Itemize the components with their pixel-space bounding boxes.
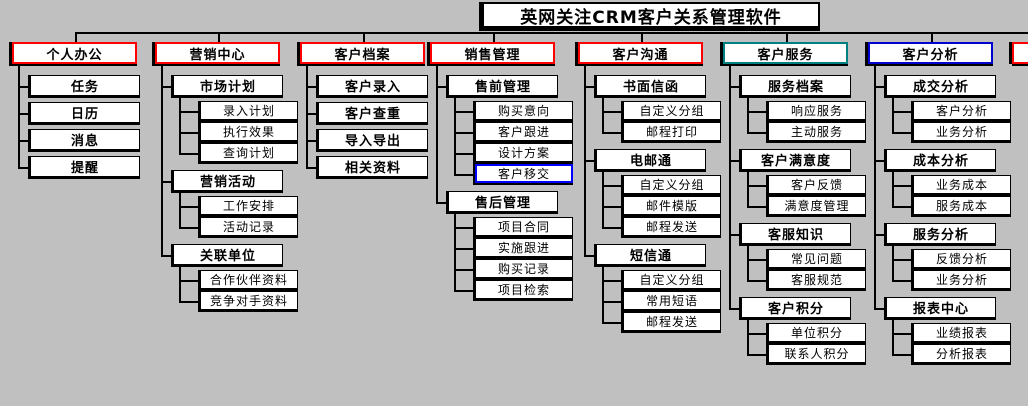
connector-line (454, 227, 475, 229)
connector-line (892, 354, 913, 356)
group-customer-communication-2[interactable]: 短信通 (596, 244, 706, 265)
connector-line (892, 111, 913, 113)
group-customer-archive-2[interactable]: 导入导出 (318, 129, 428, 150)
item-customer-communication-2-0[interactable]: 自定义分组 (623, 270, 721, 289)
connector-line (454, 290, 475, 292)
group-sales-management-1[interactable]: 售后管理 (448, 191, 558, 212)
group-personal-office-1[interactable]: 日历 (30, 102, 140, 123)
connector-line (454, 212, 456, 290)
module-marketing-center[interactable]: 营销中心 (155, 42, 280, 64)
connector-line (602, 132, 623, 134)
item-customer-service-1-1[interactable]: 满意度管理 (768, 196, 866, 215)
item-customer-communication-0-1[interactable]: 邮程打印 (623, 122, 721, 141)
item-customer-service-2-0[interactable]: 常见问题 (768, 249, 866, 268)
item-customer-service-3-1[interactable]: 联系人积分 (768, 344, 866, 363)
connector-line (179, 96, 181, 153)
item-customer-analysis-0-0[interactable]: 客户分析 (913, 101, 1011, 120)
item-sales-management-1-0[interactable]: 项目合同 (475, 217, 573, 236)
connector-line (747, 244, 749, 280)
connector-line (161, 255, 173, 257)
module-customer-service[interactable]: 客户服务 (723, 42, 848, 64)
group-customer-analysis-2[interactable]: 服务分析 (886, 223, 996, 244)
connector-line (454, 174, 475, 176)
connector-line (179, 132, 200, 134)
connector-line (729, 308, 741, 310)
connector-line (179, 301, 200, 303)
connector-line (747, 259, 768, 261)
item-marketing-center-0-0[interactable]: 录入计划 (200, 101, 298, 120)
connector-line (18, 167, 30, 169)
connector-line (892, 259, 913, 261)
item-sales-management-1-3[interactable]: 项目检索 (475, 280, 573, 299)
group-customer-archive-0[interactable]: 客户录入 (318, 75, 428, 96)
connector-line (454, 111, 475, 113)
connector-line (747, 318, 749, 354)
group-sales-management-0[interactable]: 售前管理 (448, 75, 558, 96)
group-customer-archive-1[interactable]: 客户查重 (318, 102, 428, 123)
connector-line (602, 322, 623, 324)
item-customer-analysis-2-0[interactable]: 反馈分析 (913, 249, 1011, 268)
group-customer-service-1[interactable]: 客户满意度 (741, 149, 851, 170)
item-marketing-center-2-0[interactable]: 合作伙伴资料 (200, 270, 298, 289)
connector-line (602, 170, 604, 227)
connector-line (892, 185, 913, 187)
group-customer-communication-0[interactable]: 书面信函 (596, 75, 706, 96)
group-marketing-center-2[interactable]: 关联单位 (173, 244, 283, 265)
group-personal-office-0[interactable]: 任务 (30, 75, 140, 96)
group-customer-service-3[interactable]: 客户积分 (741, 297, 851, 318)
item-customer-analysis-1-0[interactable]: 业务成本 (913, 175, 1011, 194)
connector-line (892, 132, 913, 134)
connector-line (874, 64, 876, 308)
page-title: 英网关注CRM客户关系管理软件 (482, 2, 820, 28)
group-customer-archive-3[interactable]: 相关资料 (318, 156, 428, 177)
item-customer-service-3-0[interactable]: 单位积分 (768, 323, 866, 342)
item-customer-communication-2-1[interactable]: 常用短语 (623, 291, 721, 310)
item-marketing-center-2-1[interactable]: 竞争对手资料 (200, 291, 298, 310)
item-customer-communication-2-2[interactable]: 邮程发送 (623, 312, 721, 331)
connector-line (729, 64, 731, 308)
connector-line (584, 64, 586, 255)
item-marketing-center-1-0[interactable]: 工作安排 (200, 196, 298, 215)
item-sales-management-0-2[interactable]: 设计方案 (475, 143, 573, 162)
connector-line (436, 64, 438, 202)
group-marketing-center-1[interactable]: 营销活动 (173, 170, 283, 191)
item-sales-management-0-1[interactable]: 客户跟进 (475, 122, 573, 141)
connector-line (306, 64, 308, 167)
connector-line (454, 153, 475, 155)
group-customer-analysis-1[interactable]: 成本分析 (886, 149, 996, 170)
item-customer-analysis-0-1[interactable]: 业务分析 (913, 122, 1011, 141)
connector-line (18, 64, 20, 167)
group-customer-analysis-3[interactable]: 报表中心 (886, 297, 996, 318)
connector-line (602, 206, 623, 208)
connector-line (179, 111, 200, 113)
connector-line (786, 32, 788, 42)
item-customer-communication-1-1[interactable]: 邮件模版 (623, 196, 721, 215)
group-personal-office-2[interactable]: 消息 (30, 129, 140, 150)
connector-line (436, 202, 448, 204)
connector-line (306, 167, 318, 169)
connector-line (363, 32, 365, 42)
group-personal-office-3[interactable]: 提醒 (30, 156, 140, 177)
connector-line (493, 32, 495, 42)
module-customer-archive[interactable]: 客户档案 (300, 42, 425, 64)
connector-line (454, 269, 475, 271)
connector-line (179, 153, 200, 155)
module-customer-analysis[interactable]: 客户分析 (868, 42, 993, 64)
item-sales-management-1-2[interactable]: 购买记录 (475, 259, 573, 278)
item-marketing-center-0-2[interactable]: 查询计划 (200, 143, 298, 162)
connector-line (179, 227, 200, 229)
group-customer-service-2[interactable]: 客服知识 (741, 223, 851, 244)
item-customer-analysis-3-1[interactable]: 分析报表 (913, 344, 1011, 363)
connector-line (218, 32, 220, 42)
connector-line (892, 318, 894, 354)
item-customer-service-0-0[interactable]: 响应服务 (768, 101, 866, 120)
item-customer-analysis-1-1[interactable]: 服务成本 (913, 196, 1011, 215)
group-customer-service-0[interactable]: 服务档案 (741, 75, 851, 96)
item-customer-service-1-0[interactable]: 客户反馈 (768, 175, 866, 194)
connector-line (892, 96, 894, 132)
connector-line (179, 191, 181, 227)
connector-line (747, 170, 749, 206)
connector-line (602, 227, 623, 229)
connector-line (747, 354, 768, 356)
group-customer-analysis-0[interactable]: 成交分析 (886, 75, 996, 96)
connector-line (892, 244, 894, 280)
connector-line (602, 280, 623, 282)
connector-line (602, 185, 623, 187)
connector-line (747, 185, 768, 187)
connector-line (892, 170, 894, 206)
connector-line (75, 32, 77, 42)
connector-line (179, 265, 181, 301)
connector-line (161, 64, 163, 255)
connector-line (454, 132, 475, 134)
connector-line (747, 132, 768, 134)
item-customer-communication-1-0[interactable]: 自定义分组 (623, 175, 721, 194)
item-customer-service-0-1[interactable]: 主动服务 (768, 122, 866, 141)
item-customer-analysis-3-0[interactable]: 业绩报表 (913, 323, 1011, 342)
item-customer-service-2-1[interactable]: 客服规范 (768, 270, 866, 289)
item-sales-management-1-1[interactable]: 实施跟进 (475, 238, 573, 257)
connector-line (602, 111, 623, 113)
connector-line (747, 280, 768, 282)
truncated-module-box[interactable] (1012, 42, 1028, 64)
connector-line (641, 32, 643, 42)
connector-line (602, 301, 623, 303)
connector-line (584, 255, 596, 257)
item-customer-analysis-2-1[interactable]: 业务分析 (913, 270, 1011, 289)
item-sales-management-0-0[interactable]: 购买意向 (475, 101, 573, 120)
connector-line (747, 333, 768, 335)
connector-line (179, 280, 200, 282)
item-marketing-center-0-1[interactable]: 执行效果 (200, 122, 298, 141)
connector-line (892, 206, 913, 208)
connector-line (602, 96, 604, 132)
item-sales-management-0-3[interactable]: 客户移交 (475, 164, 573, 183)
connector-line (747, 111, 768, 113)
connector-line (602, 265, 604, 322)
org-chart-canvas: 英网关注CRM客户关系管理软件 个人办公任务日历消息提醒营销中心市场计划录入计划… (0, 0, 1028, 406)
connector-line (454, 96, 456, 174)
connector-line (179, 206, 200, 208)
connector-line (454, 248, 475, 250)
module-sales-management[interactable]: 销售管理 (430, 42, 555, 64)
connector-line (747, 96, 749, 132)
connector-line (747, 206, 768, 208)
item-marketing-center-1-1[interactable]: 活动记录 (200, 217, 298, 236)
item-customer-communication-0-0[interactable]: 自定义分组 (623, 101, 721, 120)
connector-line (874, 308, 886, 310)
connector-line (892, 280, 913, 282)
connector-line (931, 32, 933, 42)
item-customer-communication-1-2[interactable]: 邮程发送 (623, 217, 721, 236)
group-customer-communication-1[interactable]: 电邮通 (596, 149, 706, 170)
group-marketing-center-0[interactable]: 市场计划 (173, 75, 283, 96)
connector-line (892, 333, 913, 335)
module-personal-office[interactable]: 个人办公 (12, 42, 137, 64)
module-customer-communication[interactable]: 客户沟通 (578, 42, 703, 64)
